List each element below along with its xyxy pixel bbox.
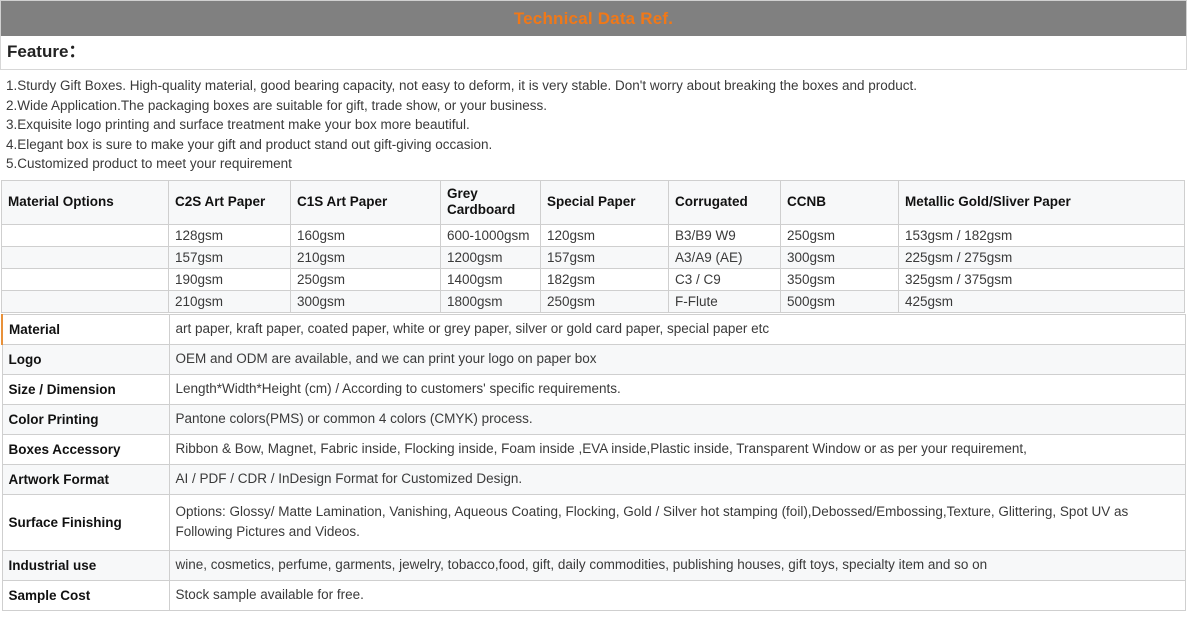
- feature-line: 4.Elegant box is sure to make your gift …: [6, 135, 1181, 155]
- feature-line: 5.Customized product to meet your requir…: [6, 154, 1181, 174]
- cell: 153gsm / 182gsm: [899, 224, 1185, 246]
- spec-value: wine, cosmetics, perfume, garments, jewe…: [169, 550, 1185, 580]
- cell: 128gsm: [169, 224, 291, 246]
- feature-line: 1.Sturdy Gift Boxes. High-quality materi…: [6, 76, 1181, 96]
- feature-line: 3.Exquisite logo printing and surface tr…: [6, 115, 1181, 135]
- spec-value: Ribbon & Bow, Magnet, Fabric inside, Flo…: [169, 434, 1185, 464]
- column-header-corrugated: Corrugated: [669, 180, 781, 224]
- spec-label: Industrial use: [2, 550, 169, 580]
- column-header-c1s-art-paper: C1S Art Paper: [291, 180, 441, 224]
- spec-row-artwork-format: Artwork Format AI / PDF / CDR / InDesign…: [2, 464, 1185, 494]
- cell: 190gsm: [169, 268, 291, 290]
- column-header-grey-cardboard: Grey Cardboard: [441, 180, 541, 224]
- column-header-metallic-gold-sliver-paper: Metallic Gold/Sliver Paper: [899, 180, 1185, 224]
- page-title: Technical Data Ref.: [514, 10, 673, 27]
- column-header-ccnb: CCNB: [781, 180, 899, 224]
- spec-row-color-printing: Color Printing Pantone colors(PMS) or co…: [2, 404, 1185, 434]
- spec-row-industrial-use: Industrial use wine, cosmetics, perfume,…: [2, 550, 1185, 580]
- cell: F-Flute: [669, 290, 781, 312]
- spec-row-logo: Logo OEM and ODM are available, and we c…: [2, 344, 1185, 374]
- cell: 500gsm: [781, 290, 899, 312]
- spec-row-surface-finishing: Surface Finishing Options: Glossy/ Matte…: [2, 494, 1185, 550]
- cell: 300gsm: [291, 290, 441, 312]
- cell: [2, 268, 169, 290]
- cell: 182gsm: [541, 268, 669, 290]
- feature-heading-box: Feature：: [0, 36, 1187, 70]
- spec-row-sample-cost: Sample Cost Stock sample available for f…: [2, 580, 1185, 610]
- table-header-row: Material Options C2S Art Paper C1S Art P…: [2, 180, 1185, 224]
- cell: 210gsm: [169, 290, 291, 312]
- cell: A3/A9 (AE): [669, 246, 781, 268]
- cell: B3/B9 W9: [669, 224, 781, 246]
- cell: [2, 246, 169, 268]
- specification-table: Material art paper, kraft paper, coated …: [1, 314, 1186, 611]
- column-header-c2s-art-paper: C2S Art Paper: [169, 180, 291, 224]
- cell: 1800gsm: [441, 290, 541, 312]
- cell: 210gsm: [291, 246, 441, 268]
- cell: 600-1000gsm: [441, 224, 541, 246]
- cell: 425gsm: [899, 290, 1185, 312]
- cell: 1200gsm: [441, 246, 541, 268]
- column-header-special-paper: Special Paper: [541, 180, 669, 224]
- cell: 325gsm / 375gsm: [899, 268, 1185, 290]
- spec-row-boxes-accessory: Boxes Accessory Ribbon & Bow, Magnet, Fa…: [2, 434, 1185, 464]
- spec-label: Material: [2, 314, 169, 344]
- table-row: 190gsm 250gsm 1400gsm 182gsm C3 / C9 350…: [2, 268, 1185, 290]
- cell: 350gsm: [781, 268, 899, 290]
- technical-data-sheet: Technical Data Ref. Feature： 1.Sturdy Gi…: [0, 0, 1187, 620]
- spec-value: Options: Glossy/ Matte Lamination, Vanis…: [169, 494, 1185, 550]
- spec-value: Pantone colors(PMS) or common 4 colors (…: [169, 404, 1185, 434]
- cell: 250gsm: [291, 268, 441, 290]
- spec-label: Surface Finishing: [2, 494, 169, 550]
- cell: 160gsm: [291, 224, 441, 246]
- cell: 1400gsm: [441, 268, 541, 290]
- feature-list: 1.Sturdy Gift Boxes. High-quality materi…: [0, 70, 1187, 180]
- feature-line: 2.Wide Application.The packaging boxes a…: [6, 96, 1181, 116]
- cell: 250gsm: [781, 224, 899, 246]
- cell: 120gsm: [541, 224, 669, 246]
- table-row: 128gsm 160gsm 600-1000gsm 120gsm B3/B9 W…: [2, 224, 1185, 246]
- cell: [2, 224, 169, 246]
- spec-value: OEM and ODM are available, and we can pr…: [169, 344, 1185, 374]
- table-row: 157gsm 210gsm 1200gsm 157gsm A3/A9 (AE) …: [2, 246, 1185, 268]
- material-options-table: Material Options C2S Art Paper C1S Art P…: [1, 180, 1185, 313]
- cell: 250gsm: [541, 290, 669, 312]
- cell: 157gsm: [541, 246, 669, 268]
- spec-row-material: Material art paper, kraft paper, coated …: [2, 314, 1185, 344]
- spec-value: AI / PDF / CDR / InDesign Format for Cus…: [169, 464, 1185, 494]
- feature-heading: Feature：: [7, 42, 1180, 62]
- column-header-material-options: Material Options: [2, 180, 169, 224]
- spec-value: art paper, kraft paper, coated paper, wh…: [169, 314, 1185, 344]
- spec-value: Stock sample available for free.: [169, 580, 1185, 610]
- cell: 157gsm: [169, 246, 291, 268]
- spec-value: Length*Width*Height (cm) / According to …: [169, 374, 1185, 404]
- cell: C3 / C9: [669, 268, 781, 290]
- spec-label: Boxes Accessory: [2, 434, 169, 464]
- spec-row-size-dimension: Size / Dimension Length*Width*Height (cm…: [2, 374, 1185, 404]
- spec-label: Logo: [2, 344, 169, 374]
- title-banner: Technical Data Ref.: [0, 0, 1187, 36]
- spec-label: Size / Dimension: [2, 374, 169, 404]
- cell: 225gsm / 275gsm: [899, 246, 1185, 268]
- cell: [2, 290, 169, 312]
- cell: 300gsm: [781, 246, 899, 268]
- spec-label: Artwork Format: [2, 464, 169, 494]
- table-row: 210gsm 300gsm 1800gsm 250gsm F-Flute 500…: [2, 290, 1185, 312]
- spec-label: Sample Cost: [2, 580, 169, 610]
- spec-label: Color Printing: [2, 404, 169, 434]
